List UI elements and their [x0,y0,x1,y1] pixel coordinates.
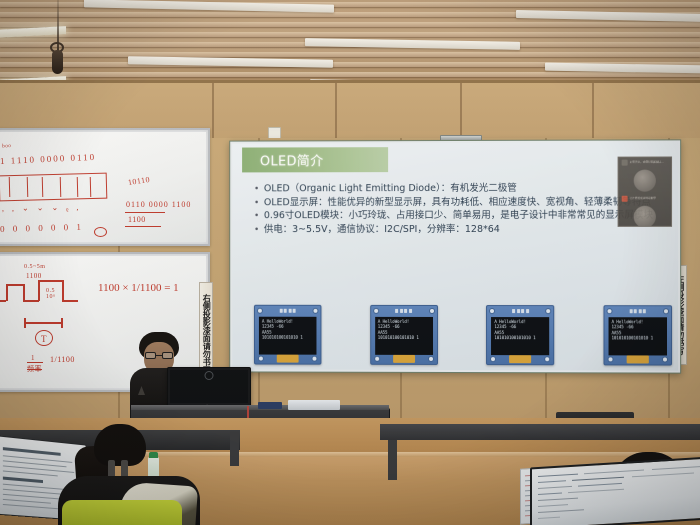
oled-text-line: 101010100101010 1 [378,335,430,340]
green-chair [62,500,182,525]
projection-screen: OLED简介 • OLED（Organic Light Emitting Dio… [229,139,681,373]
classroom-scene: ᵇᵒᵒ 1 1110 0000 0110 , , ⌄ ⌄ ⌄ ᵨ , 0 0 0… [0,0,700,525]
video-chat-overlay[interactable]: 正在共享，请勿打扰此窗口… 已开启会议录制功能中 [618,156,672,226]
slide-title-bar: OLED简介 [242,147,388,172]
participant-video-tile [634,170,656,192]
oled-screen: A HelloWorld! 12345 -66 AA55 10101010010… [491,317,549,355]
whiteboard-label: 1100 [26,272,42,280]
oled-module-photo: A HelloWorld! 12345 -66 AA55 10101010010… [603,305,672,365]
oled-screen: A HelloWorld! 12345 -66 AA55 10101010010… [608,317,666,355]
slide-bullet-text: 0.96寸OLED模块：小巧玲珑、占用接口少、简单易用，是电子设计中非常常见的显… [264,210,674,223]
oled-screen: A HelloWorld! 12345 -66 AA55 10101010010… [259,317,317,355]
whiteboard-label: T [41,334,47,344]
slide-title: OLED简介 [260,150,324,169]
glasses-icon [145,352,173,359]
chat-message-text: 已开启会议录制功能中 [630,197,656,201]
oled-module-gallery: A HelloWorld! 12345 -66 AA55 10101010010… [254,303,672,366]
bullet-marker-icon: • [254,224,264,236]
oled-module-photo: A HelloWorld! 12345 -66 AA55 10101010010… [254,305,321,365]
laptop-screen-right [530,456,700,525]
whiteboard-note-line: 1 1110 0000 0110 [0,152,96,166]
slide-bullet-list: • OLED（Organic Light Emitting Diode）：有机发… [254,183,674,237]
student-laptop-right[interactable] [520,462,700,525]
slide-bullet-text: 供电：3~5.5V，通信协议：I2C/SPI，分辨率：128*64 [264,223,674,236]
desk-leg [388,440,397,480]
desk-papers [288,400,340,410]
ceiling-slats [0,0,700,82]
desk-leg [230,432,239,466]
hanging-microphone [52,50,63,74]
participant-video-tile [634,206,656,227]
avatar [622,160,628,166]
slide-bullet: • OLED（Organic Light Emitting Diode）：有机发… [254,183,674,196]
oled-text-line: 101010100101010 1 [494,335,546,341]
chat-message-row: 已开启会议录制功能中 [619,194,671,204]
slide-bullet-text: OLED显示屏：性能优异的新型显示屏，具有功耗低、相应速度快、宽视角、轻薄柔韧等… [264,196,674,209]
warning-sign-left-text: 右侧投影漆面请勿书写 [202,294,210,374]
whiteboard-equation: 1100 × 1/1100 = 1 [98,282,179,294]
acoustic-panel [305,38,520,50]
back-counter-dark-right [380,424,700,440]
slide-bullet-text: OLED（Organic Light Emitting Diode）：有机发光二… [264,183,674,196]
oled-module-photo: A HelloWorld! 12345 -66 AA55 10101010010… [370,305,438,365]
whiteboard-label: 1/1100 [50,355,75,364]
slide-canvas: OLED简介 • OLED（Organic Light Emitting Dio… [232,142,678,370]
oled-module-photo: A HelloWorld! 12345 -66 AA55 10101010010… [486,305,554,365]
slide-bullet: • 供电：3~5.5V，通信协议：I2C/SPI，分辨率：128*64 [254,223,674,236]
whiteboard-note-line: 0110 0000 1100 [126,200,191,209]
oled-text-line: 101010100101010 1 [612,336,664,342]
hp-logo-icon [205,371,214,380]
whiteboard-note-line: 0 0 0 0 0 0 1 [0,222,84,234]
slide-bullet: • OLED显示屏：性能优异的新型显示屏，具有功耗低、相应速度快、宽视角、轻薄柔… [254,196,674,209]
bullet-marker-icon: • [254,210,264,222]
bullet-marker-icon: • [254,197,264,209]
chat-message-text: 正在共享，请勿打扰此窗口… [630,161,664,165]
whiteboard-top: ᵇᵒᵒ 1 1110 0000 0110 , , ⌄ ⌄ ⌄ ᵨ , 0 0 0… [0,128,210,246]
student-head [94,424,146,466]
chat-message-row: 正在共享，请勿打扰此窗口… [619,158,671,168]
desk-device [258,402,282,409]
slide-bullet: • 0.96寸OLED模块：小巧玲珑、占用接口少、简单易用，是电子设计中非常常见… [254,210,674,223]
oled-text-line: 101010100101010 1 [262,335,314,340]
avatar [622,196,628,202]
bullet-marker-icon: • [254,183,264,195]
oled-screen: A HelloWorld! 12345 -66 AA55 10101010010… [375,317,433,355]
